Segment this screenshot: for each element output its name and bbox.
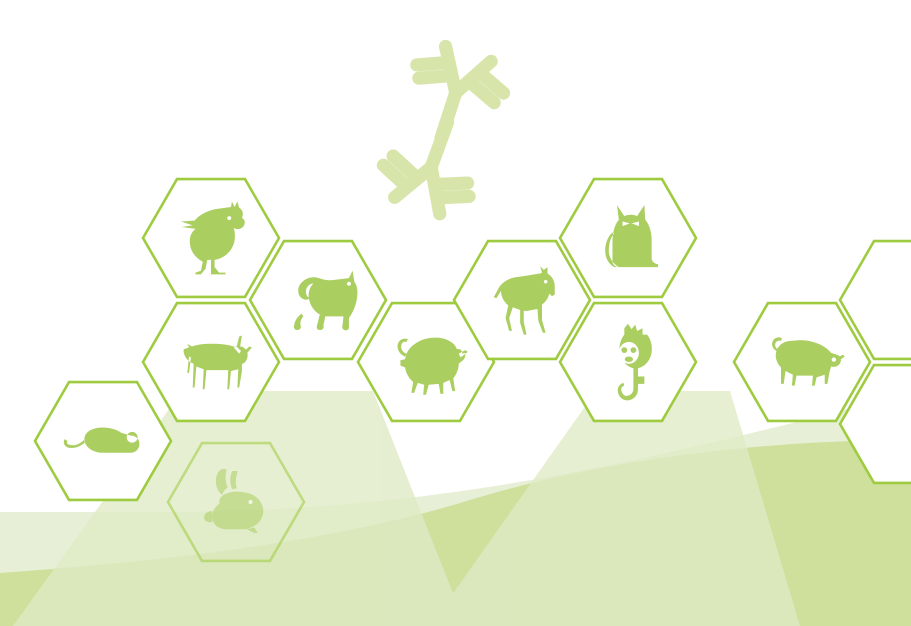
banner-canvas: [0, 0, 911, 626]
scene-illustration: [0, 0, 911, 626]
